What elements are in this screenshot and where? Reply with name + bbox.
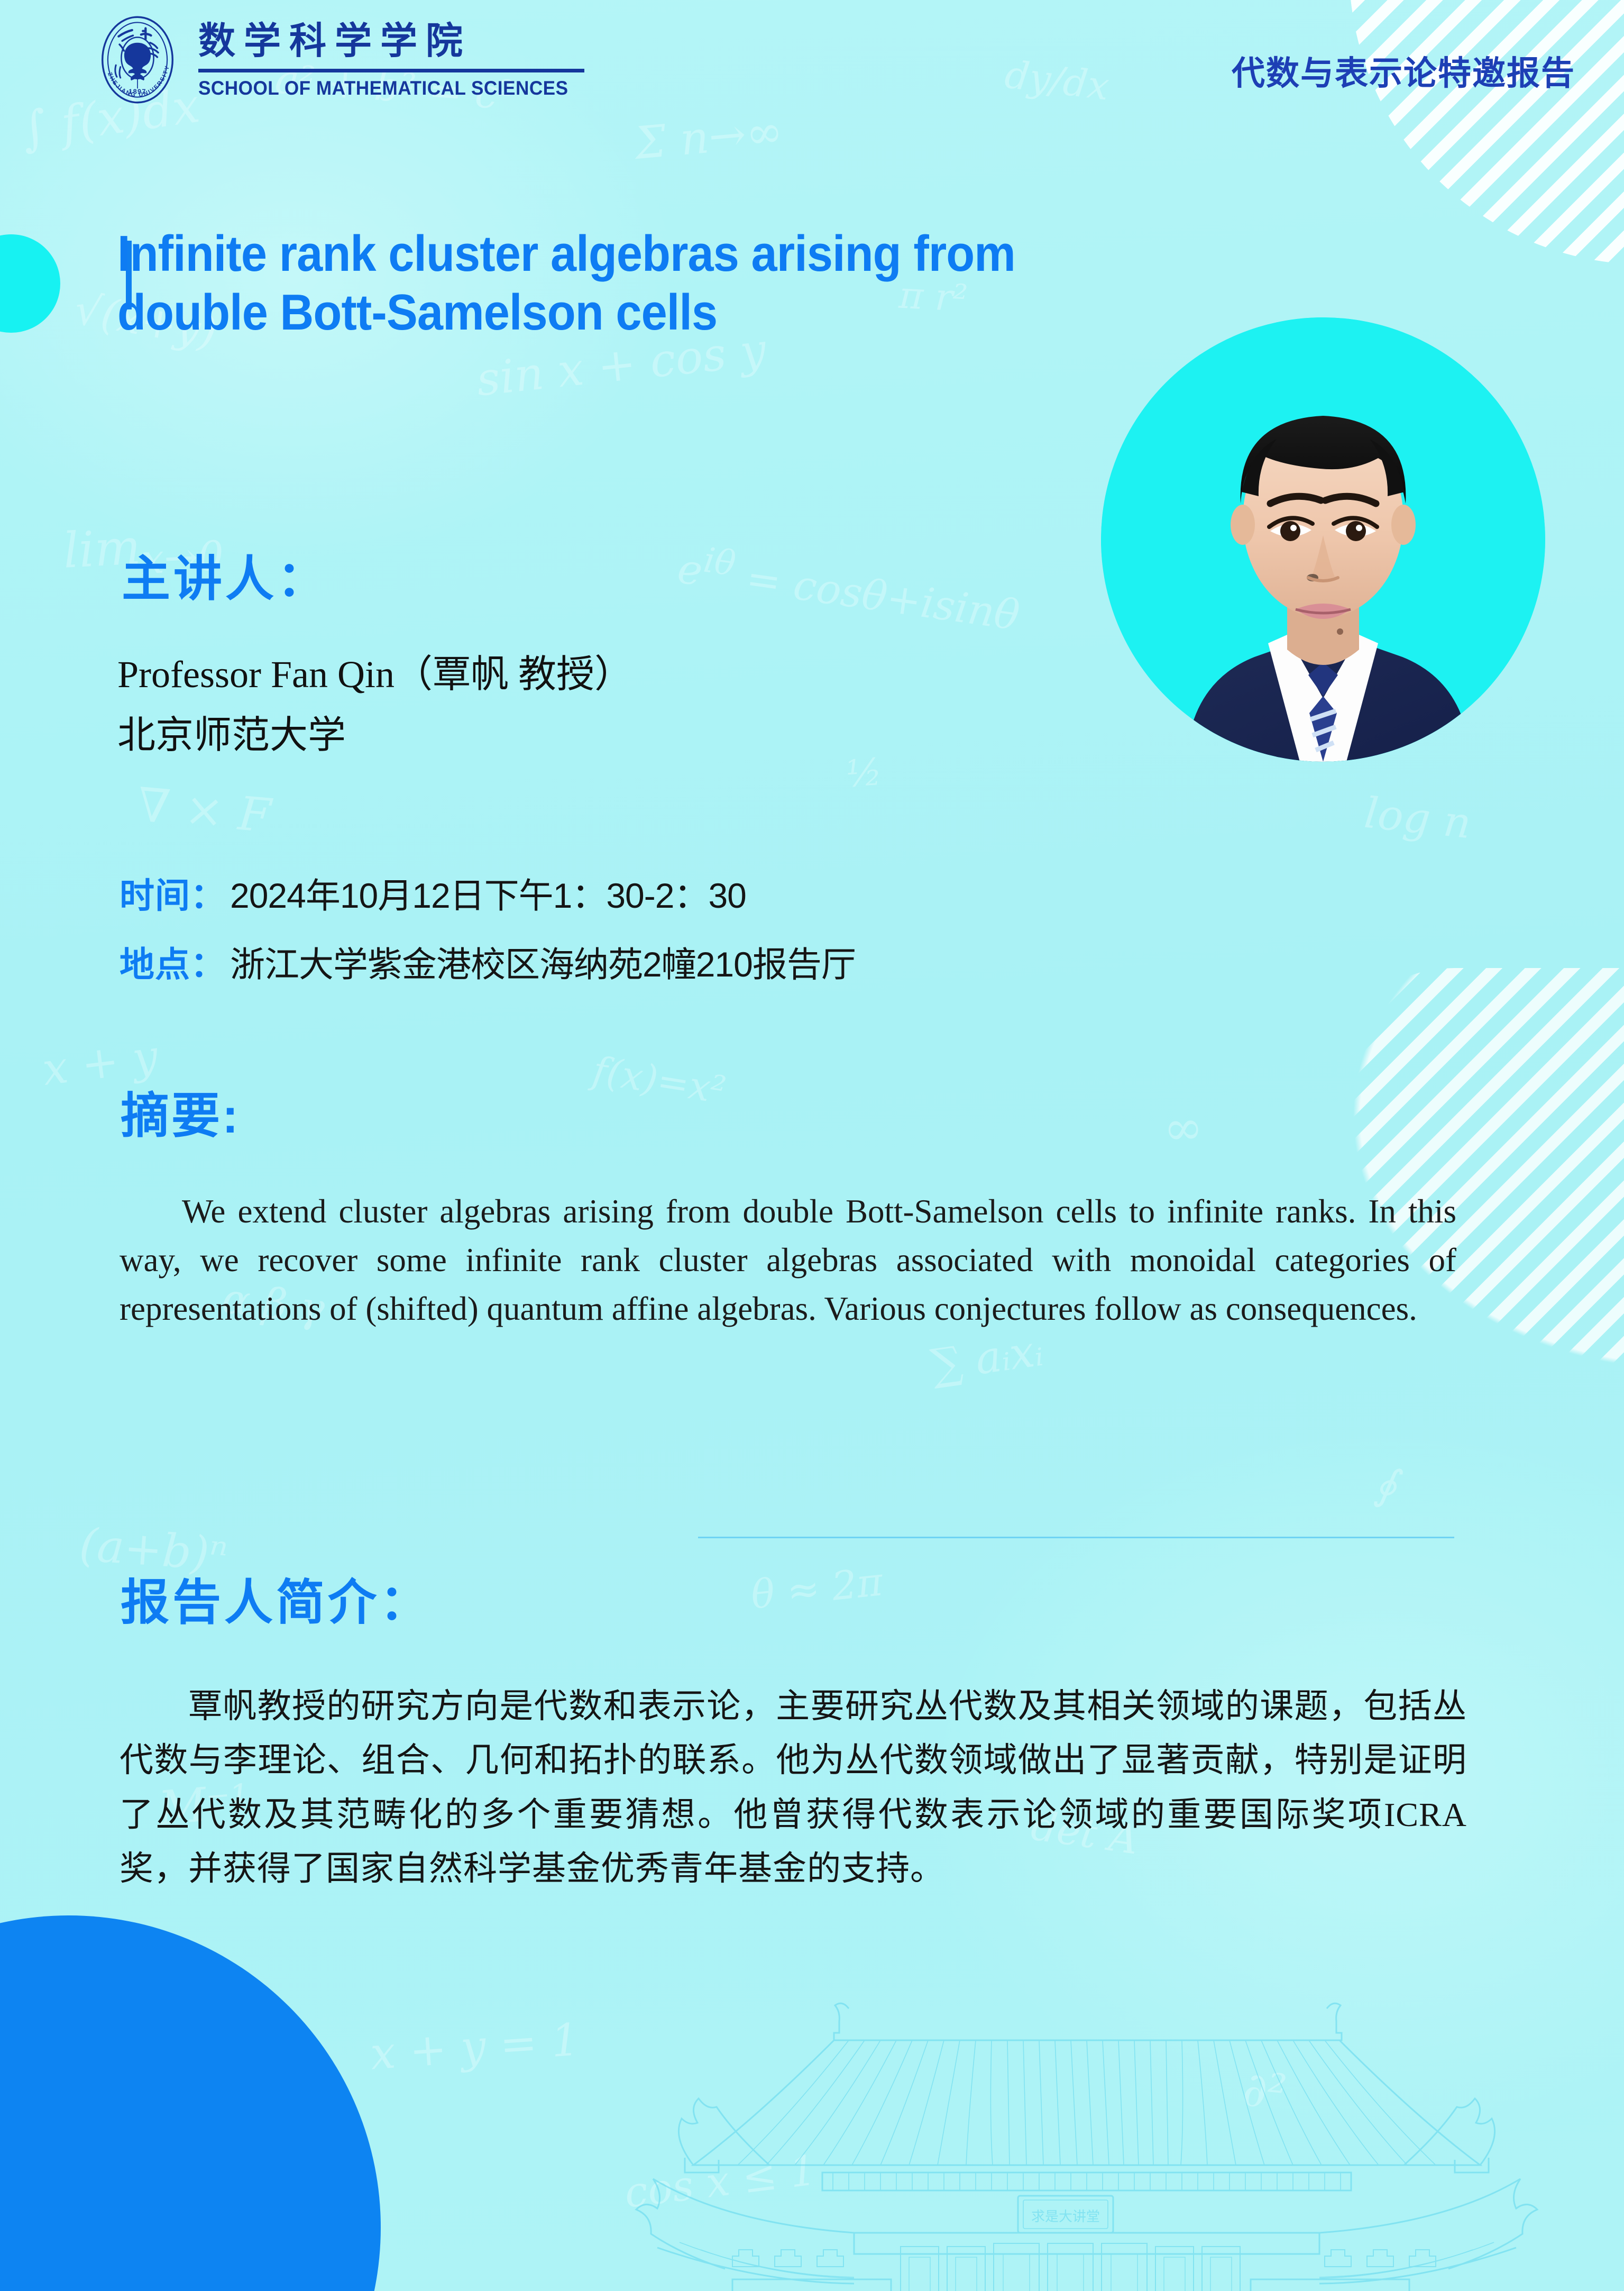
place-label: 地点： xyxy=(120,936,226,987)
speaker-label: 主讲人： xyxy=(122,540,329,610)
university-logo-lockup: 1897 ZHEJIANG UNIVERSITY 数学科学学院 SCHOOL O… xyxy=(93,15,588,105)
school-divider xyxy=(198,69,584,72)
series-tag: 代数与表示论特邀报告 xyxy=(1232,47,1575,95)
zhejiang-university-seal-icon: 1897 ZHEJIANG UNIVERSITY xyxy=(93,15,182,105)
speaker-photo xyxy=(1101,317,1545,762)
place-row: 地点： 浙江大学紫金港校区海纳苑2幢210报告厅 xyxy=(120,936,856,987)
time-value: 2024年10月12日下午1：30-2：30 xyxy=(230,868,746,918)
speaker-portrait xyxy=(1101,317,1545,762)
school-name-cn: 数学科学学院 xyxy=(198,22,588,59)
bio-label: 报告人简介： xyxy=(121,1563,432,1633)
time-label: 时间： xyxy=(120,868,226,918)
talk-title: Infinite rank cluster algebras arising f… xyxy=(117,224,1105,342)
place-value: 浙江大学紫金港校区海纳苑2幢210报告厅 xyxy=(230,936,856,987)
bio-body: 覃帆教授的研究方向是代数和表示论，主要研究丛代数及其相关领域的课题，包括丛代数与… xyxy=(120,1680,1467,1896)
school-name-block: 数学科学学院 SCHOOL OF MATHEMATICAL SCIENCES xyxy=(198,15,588,99)
abstract-label: 摘要: xyxy=(121,1076,241,1147)
section-divider xyxy=(698,1537,1454,1538)
time-row: 时间： 2024年10月12日下午1：30-2：30 xyxy=(120,868,746,918)
school-name-en: SCHOOL OF MATHEMATICAL SCIENCES xyxy=(198,77,568,99)
poster-root: ∫ f(x)dx a² + b² = c² Σ n→∞ dy/dx √(x+y)… xyxy=(0,0,1624,2291)
speaker-affiliation: 北京师范大学 xyxy=(117,704,346,759)
poster-header: 1897 ZHEJIANG UNIVERSITY 数学科学学院 SCHOOL O… xyxy=(0,0,1624,159)
abstract-body: We extend cluster algebras arising from … xyxy=(120,1188,1456,1334)
speaker-name: Professor Fan Qin（覃帆 教授） xyxy=(117,643,632,698)
